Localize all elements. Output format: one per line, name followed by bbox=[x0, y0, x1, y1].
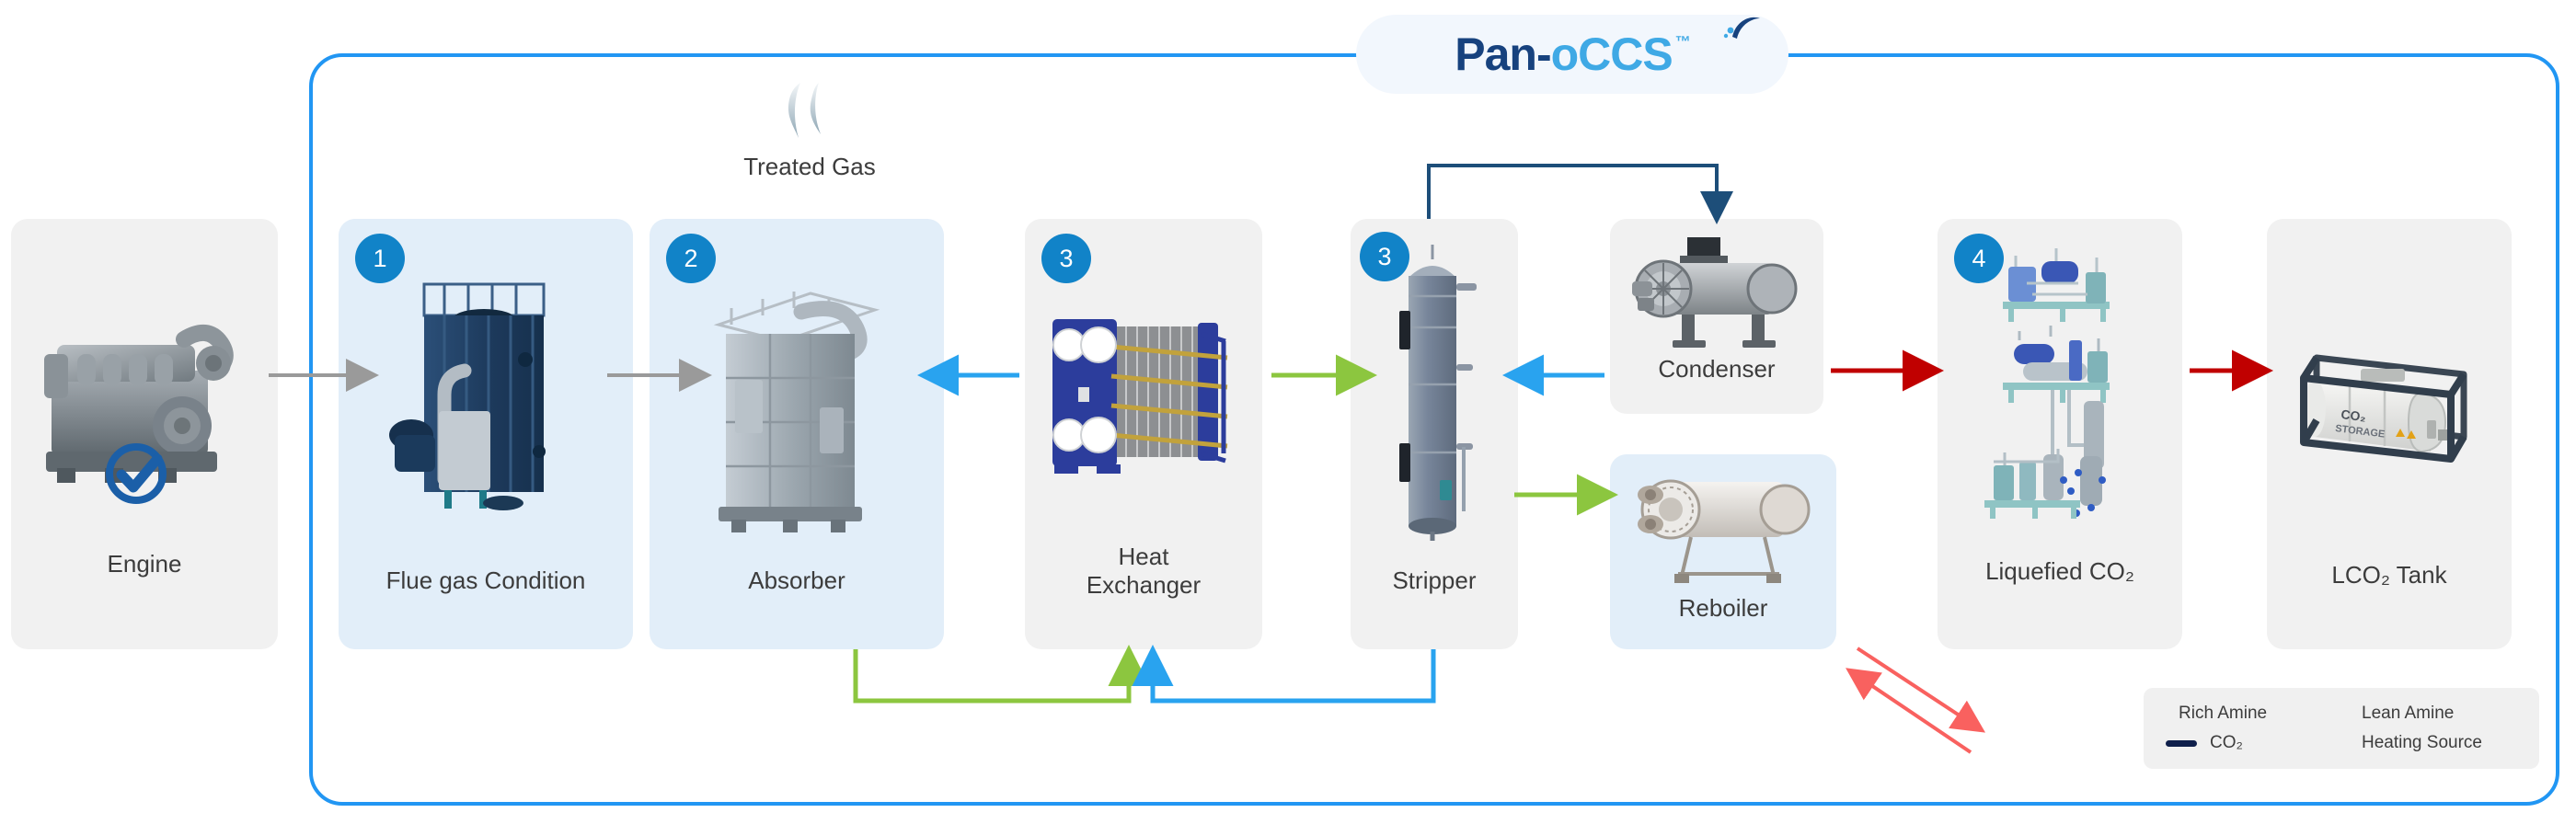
legend-label-heating-source: Heating Source bbox=[2362, 733, 2482, 753]
node-condenser[interactable]: Condenser bbox=[1610, 219, 1823, 414]
flue-gas-conditioner-icon bbox=[339, 267, 633, 543]
node-flue-gas-badge: 1 bbox=[355, 234, 405, 283]
legend-swatch-heating-source: Heating Source bbox=[2341, 733, 2450, 753]
svg-text:STORAGE: STORAGE bbox=[2335, 423, 2386, 441]
liquefaction-skid-icon bbox=[1938, 245, 2182, 521]
node-reboiler[interactable]: Reboiler bbox=[1610, 454, 1836, 649]
node-flue-gas[interactable]: 1 bbox=[339, 219, 633, 649]
node-absorber-label: Absorber bbox=[650, 566, 944, 595]
node-liquefied-co2[interactable]: 4 bbox=[1938, 219, 2182, 649]
legend-label-co2: CO₂ bbox=[2210, 733, 2243, 753]
svg-text:CO₂: CO₂ bbox=[2340, 406, 2367, 424]
treated-gas-label: Treated Gas bbox=[743, 153, 876, 181]
trademark-symbol: ™ bbox=[1675, 33, 1690, 51]
node-absorber[interactable]: 2 bbox=[650, 219, 944, 649]
node-engine[interactable]: Engine bbox=[11, 219, 278, 649]
brand-name-dark: Pan- bbox=[1455, 28, 1550, 81]
node-reboiler-label: Reboiler bbox=[1610, 594, 1836, 623]
node-engine-label: Engine bbox=[11, 550, 278, 578]
stripper-column-icon bbox=[1351, 239, 1518, 543]
iso-tank-container-icon: CO₂ STORAGE bbox=[2267, 337, 2512, 484]
condenser-icon bbox=[1610, 232, 1823, 351]
node-liquefied-co2-label: Liquefied CO₂ bbox=[1938, 557, 2182, 586]
legend-swatch-lean-amine: Lean Amine bbox=[2341, 704, 2450, 724]
legend-swatch-co2: CO₂ bbox=[2158, 733, 2267, 753]
node-heat-exchanger[interactable]: 3 bbox=[1025, 219, 1262, 649]
process-flow-diagram: Pan-oCCS™ Treated Gas bbox=[0, 0, 2576, 824]
node-stripper-label: Stripper bbox=[1351, 566, 1518, 595]
reboiler-icon bbox=[1610, 467, 1836, 587]
vapor-smoke-icon bbox=[776, 81, 843, 145]
plate-heat-exchanger-icon bbox=[1025, 297, 1262, 490]
brand-logo: Pan-oCCS™ bbox=[1455, 28, 1689, 81]
node-stripper-badge: 3 bbox=[1360, 232, 1409, 281]
absorber-column-icon bbox=[650, 265, 944, 541]
node-flue-gas-label: Flue gas Condition bbox=[339, 566, 633, 595]
node-lco2-tank[interactable]: CO₂ STORAGE LCO₂ Tank bbox=[2267, 219, 2512, 649]
treated-gas-node: Treated Gas bbox=[718, 81, 902, 181]
brand-badge: Pan-oCCS™ bbox=[1356, 15, 1788, 94]
legend-label-lean-amine: Lean Amine bbox=[2362, 704, 2454, 724]
engine-icon bbox=[11, 274, 278, 541]
brand-swoosh-icon bbox=[1723, 15, 1762, 42]
node-heat-exchanger-badge: 3 bbox=[1041, 234, 1091, 283]
node-condenser-label: Condenser bbox=[1610, 355, 1823, 383]
legend-label-rich-amine: Rich Amine bbox=[2179, 704, 2267, 724]
node-absorber-badge: 2 bbox=[666, 234, 716, 283]
node-heat-exchanger-label: Heat Exchanger bbox=[1025, 543, 1262, 600]
node-lco2-tank-label: LCO₂ Tank bbox=[2267, 561, 2512, 589]
node-liquefied-co2-badge: 4 bbox=[1954, 234, 2004, 283]
node-stripper[interactable]: 3 bbox=[1351, 219, 1518, 649]
legend-swatch-rich-amine: Rich Amine bbox=[2158, 704, 2267, 724]
brand-name-light: oCCS bbox=[1551, 28, 1673, 81]
legend: Rich Amine Lean Amine CO₂ Heating Source bbox=[2144, 688, 2539, 769]
